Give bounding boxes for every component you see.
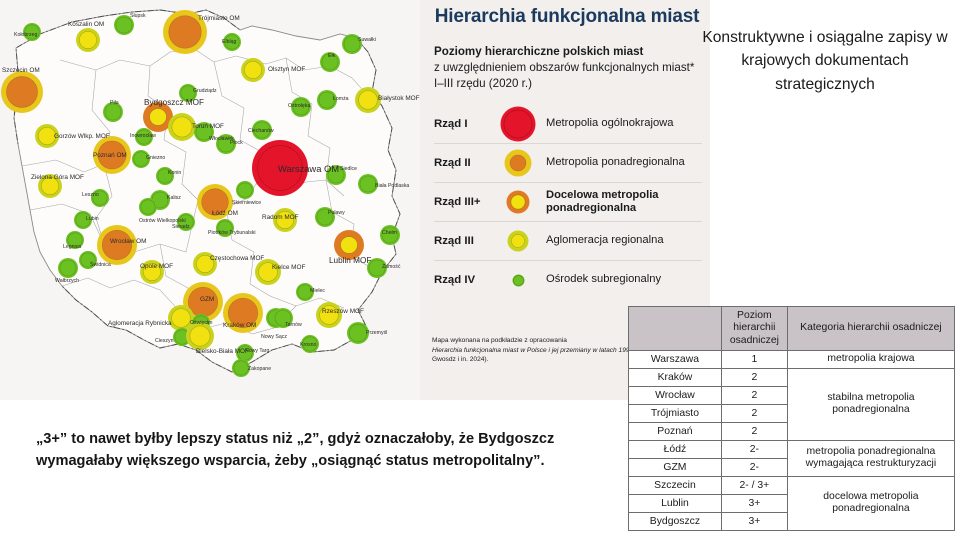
cell-city: Warszawa [629,350,722,368]
legend-rank-label: Rząd II [434,157,490,169]
legend-list: Rząd IMetropolia ogólnokrajowaRząd IIMet… [434,105,702,299]
cell-city: Poznań [629,422,722,440]
legend-row: Rząd IVOśrodek subregionalny [434,261,702,299]
city-marker-inner [41,177,58,194]
city-marker-inner [360,176,376,192]
cell-city: Trójmiasto [629,404,722,422]
city-marker-inner [258,146,303,191]
legend-row: Rząd III+Docelowa metropolia ponadregion… [434,183,702,222]
legend-item-label: Aglomeracja regionalna [546,234,702,247]
cell-city: Szczecin [629,476,722,494]
bottom-left-statement: „3+” to nawet byłby lepszy status niż „2… [36,428,626,472]
city-marker-inner [254,122,270,138]
table-row: Warszawa1metropolia krajowa [629,350,955,368]
city-marker-inner [228,298,258,328]
city-marker-inner [93,191,107,205]
city-marker-inner [81,253,95,267]
city-marker-inner [382,227,398,243]
legend-rank-label: Rząd III [434,235,490,247]
city-marker-inner [196,124,212,140]
cell-level: 2- [721,440,787,458]
cell-city: Bydgoszcz [629,512,722,530]
city-marker-inner [202,189,229,216]
city-marker-inner [76,213,90,227]
orange-circle-icon [490,149,546,177]
city-marker-inner [320,306,339,325]
city-marker-inner [172,309,191,328]
hierarchy-table-wrapper: Poziom hierarchii osadniczej Kategoria h… [628,306,955,531]
city-marker-inner [158,169,172,183]
slide-root: KołobrzegKoszalin OMSłupskTrójmiasto OMS… [0,0,955,533]
legend-rank-label: Rząd I [434,118,490,130]
legend-item-label: Ośrodek subregionalny [546,273,702,286]
cell-level: 2 [721,422,787,440]
cell-city: Lublin [629,494,722,512]
city-marker-inner [319,92,335,108]
cell-category: stabilna metropolia ponadregionalna [787,368,954,440]
cell-level: 2- / 3+ [721,476,787,494]
city-marker-inner [218,221,232,235]
legend-rank-label: Rząd III+ [434,196,490,208]
table-row: Łódź2-metropolia ponadregionalna wymagaj… [629,440,955,458]
city-marker-inner [196,255,213,272]
city-marker-inner [238,346,252,360]
cell-level: 3+ [721,512,787,530]
city-marker-inner [150,109,167,126]
city-marker-inner [102,230,132,260]
city-marker-inner [369,260,385,276]
city-marker-inner [322,54,338,70]
source-italic: Hierarchia funkcjonalna miast w Polsce i… [432,347,650,354]
cell-city: Łódź [629,440,722,458]
legend-item-label: Metropolia ponadregionalna [546,156,702,169]
city-marker-inner [98,141,126,169]
city-marker-inner [25,25,39,39]
city-marker-inner [60,260,76,276]
yellow-orange-ring-circle-icon [490,190,546,214]
city-marker-inner [298,285,312,299]
city-marker-inner [293,99,309,115]
city-marker-inner [38,127,55,144]
city-marker-inner [68,233,82,247]
cell-level: 2 [721,404,787,422]
poland-map-svg [0,0,420,400]
cell-city: Kraków [629,368,722,386]
city-marker-inner [317,209,333,225]
city-marker-inner [134,152,148,166]
city-marker-inner [169,16,202,49]
legend-heading-rest: z uwzględnieniem obszarów funkcjonalnych… [434,61,694,90]
legend-item-label: Metropolia ogólnokrajowa [546,117,702,130]
cell-category: metropolia ponadregionalna wymagająca re… [787,440,954,476]
city-marker-inner [141,200,155,214]
table-row: Szczecin2- / 3+docelowa metropolia ponad… [629,476,955,494]
cell-category: metropolia krajowa [787,350,954,368]
city-marker-inner [6,76,37,107]
legend-heading-bold: Poziomy hierarchiczne polskich miast [434,45,643,58]
hierarchy-table-body: Warszawa1metropolia krajowaKraków2stabil… [629,350,955,530]
city-marker-inner [238,183,252,197]
yellow-circle-icon [490,230,546,252]
source-line-1: Mapa wykonana na podkładzie z opracowani… [432,337,567,344]
city-marker-inner [225,35,239,49]
header-level: Poziom hierarchii osadniczej [721,307,787,351]
header-city [629,307,722,351]
city-marker-inner [137,130,151,144]
table-row: Kraków2stabilna metropolia ponadregional… [629,368,955,386]
city-marker-inner [190,326,210,346]
city-marker-inner [259,263,278,282]
city-marker-inner [244,61,261,78]
green-circle-icon [490,274,546,287]
city-marker-inner [341,237,358,254]
legend-row: Rząd IIMetropolia ponadregionalna [434,144,702,183]
top-right-statement: Konstruktywne i osiągalne zapisy w krajo… [700,26,950,96]
header-category: Kategoria hierarchii osadniczej [787,307,954,351]
cell-city: Wrocław [629,386,722,404]
city-marker-inner [105,104,121,120]
legend-row: Rząd IMetropolia ogólnokrajowa [434,105,702,144]
map-panel: KołobrzegKoszalin OMSłupskTrójmiasto OMS… [0,0,420,400]
city-marker-inner [143,263,160,280]
cell-level: 1 [721,350,787,368]
red-large-circle-icon [490,106,546,142]
table-header-row: Poziom hierarchii osadniczej Kategoria h… [629,307,955,351]
legend-rank-label: Rząd IV [434,274,490,286]
hierarchy-table: Poziom hierarchii osadniczej Kategoria h… [628,306,955,531]
legend-row: Rząd IIIAglomeracja regionalna [434,222,702,261]
city-marker-inner [234,361,248,375]
cell-level: 3+ [721,494,787,512]
cell-level: 2 [721,386,787,404]
city-marker-inner [275,310,291,326]
city-marker-inner [79,31,96,48]
cell-category: docelowa metropolia ponadregionalna [787,476,954,530]
city-marker-inner [303,337,317,351]
city-marker-inner [116,17,132,33]
city-marker-inner [344,36,360,52]
hierarchy-table-head: Poziom hierarchii osadniczej Kategoria h… [629,307,955,351]
map-title: Hierarchia funkcjonalna miast [426,6,708,28]
city-marker-inner [359,91,378,110]
city-marker-inner [172,117,192,137]
legend-heading: Poziomy hierarchiczne polskich miast z u… [434,44,700,92]
cell-city: GZM [629,458,722,476]
city-marker-inner [276,211,293,228]
city-marker-inner [218,136,234,152]
city-marker-inner [349,324,367,342]
legend-item-label: Docelowa metropolia ponadregionalna [546,189,702,216]
cell-level: 2- [721,458,787,476]
city-marker-inner [181,86,195,100]
cell-level: 2 [721,368,787,386]
city-marker-inner [179,215,193,229]
city-marker-inner [328,167,344,183]
